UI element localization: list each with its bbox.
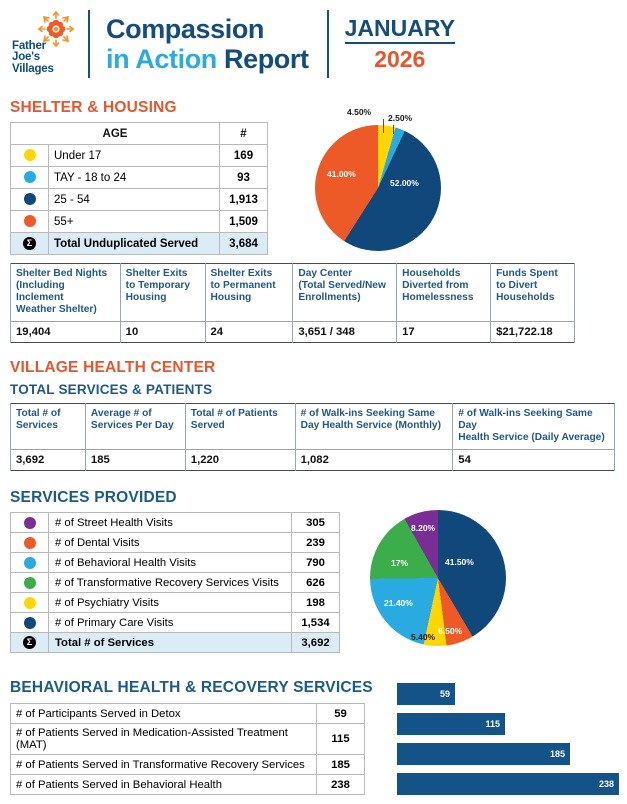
hdr-line: Health Service (Daily Average) [458,432,609,444]
value-total-patients-served: 1,220 [185,450,295,471]
total-value: 3,684 [220,233,268,255]
table-row: # of Primary Care Visits 1,534 [11,613,340,633]
value-walkins-monthly: 1,082 [295,450,453,471]
table-header-row: Shelter Bed Nights (Including Inclement … [11,264,575,322]
value-households-diverted: 17 [397,322,491,343]
service-value: 790 [292,553,340,573]
hdr-line: Housing [211,292,288,304]
table-row: 25 - 54 1,913 [11,189,268,211]
bar-value: 115 [485,719,505,729]
report-month: JANUARY [345,16,455,44]
legend-dot-cell [11,167,49,189]
col-header-walkins-monthly: # of Walk-ins Seeking Same Day Health Se… [295,404,453,450]
hdr-line: Shelter Exits [126,268,200,280]
services-provided-pie-chart: 41.50% 6.50% 5.40% 21.40% 17% 8.20% [360,500,530,655]
bh-label: # of Patients Served in Behavioral Healt… [11,775,317,795]
hdr-line: Services Per Day [91,420,180,432]
bar-behavioral-health: 238 [397,773,619,795]
bh-value: 115 [317,724,365,755]
vhc-total-services-table: Total # of Services Average # of Service… [10,403,615,471]
age-table: AGE # Under 17 169 TAY - 18 to 24 93 25 … [10,122,268,255]
col-header-walkins-daily: # of Walk-ins Seeking Same Day Health Se… [453,404,615,450]
header-divider-right [327,10,329,78]
total-label: Total # of Services [49,633,292,653]
report-header: Father Joe's Villages Compassion in Acti… [0,0,627,88]
table-row: # of Patients Served in Medication-Assis… [11,724,365,755]
report-title: Compassion in Action Report [106,14,309,74]
title-report: Report [224,44,309,74]
pie-label-primary-care: 41.50% [445,557,474,567]
logo-line-2: Joe's [12,52,54,64]
service-label: # of Psychiatry Visits [49,593,292,613]
bar-value: 59 [440,689,455,699]
hdr-line: Diverted from [402,280,485,292]
pie-label-dental: 6.50% [438,626,462,636]
hdr-line: Services [16,420,80,432]
leader-line-1 [383,119,384,133]
bar-row: 238 [385,773,625,795]
hdr-line: Served [191,420,290,432]
pie-label-25-54: 52.00% [390,178,419,188]
pie-label-under-17: 4.50% [347,107,371,117]
pie-label-psychiatry: 5.40% [411,632,435,642]
pie-label-street-health: 8.20% [411,523,435,533]
bh-label: # of Participants Served in Detox [11,704,317,724]
col-header-shelter-bed-nights: Shelter Bed Nights (Including Inclement … [11,264,121,322]
shelter-stats-table: Shelter Bed Nights (Including Inclement … [10,263,575,343]
hdr-line: Weather Shelter) [16,304,115,316]
col-header-funds-spent: Funds Spent to Divert Households [491,264,575,322]
header-divider-left [88,10,90,78]
light-blue-dot-icon [24,557,36,569]
logo: Father Joe's Villages [12,9,74,79]
col-header-households-diverted: Households Diverted from Homelessness [397,264,491,322]
leader-line-2 [393,125,394,134]
title-in-action: in Action [106,44,217,74]
orange-dot-icon [24,537,36,549]
service-label: # of Dental Visits [49,533,292,553]
value-walkins-daily: 54 [453,450,615,471]
navy-dot-icon [24,617,36,629]
col-header-avg-services-per-day: Average # of Services Per Day [85,404,185,450]
legend-dot-cell [11,513,49,533]
hdr-line: Funds Spent [496,268,569,280]
age-label: 25 - 54 [49,189,220,211]
section-title-behavioral-health: BEHAVIORAL HEALTH & RECOVERY SERVICES [10,679,373,697]
bh-label: # of Patients Served in Transformative R… [11,755,317,775]
section-title-services-provided: SERVICES PROVIDED [10,489,177,507]
value-shelter-bed-nights: 19,404 [11,322,121,343]
yellow-dot-icon [24,149,36,161]
age-value: 1,913 [220,189,268,211]
table-row: # of Transformative Recovery Services Vi… [11,573,340,593]
pie-slices [315,125,441,251]
logo-wordmark: Father Joe's Villages [12,41,54,76]
table-row: # of Psychiatry Visits 198 [11,593,340,613]
col-header-total-services: Total # of Services [11,404,86,450]
behavioral-health-bar-chart: 59 115 185 238 [385,683,625,801]
hdr-line: to Permanent [211,280,288,292]
value-total-services: 3,692 [11,450,86,471]
hdr-line: Households [496,292,569,304]
legend-dot-cell [11,593,49,613]
table-row: Under 17 169 [11,145,268,167]
service-value: 305 [292,513,340,533]
light-blue-dot-icon [24,171,36,183]
table-row: # of Participants Served in Detox 59 [11,704,365,724]
services-provided-table: # of Street Health Visits 305 # of Denta… [10,512,340,653]
report-date: JANUARY 2026 [345,16,455,73]
legend-dot-cell [11,145,49,167]
col-header-exits-temporary: Shelter Exits to Temporary Housing [120,264,205,322]
hdr-line: Households [402,268,485,280]
table-row: # of Patients Served in Behavioral Healt… [11,775,365,795]
pie-label-transformative-recovery: 17% [391,558,408,568]
section-title-shelter-housing: SHELTER & HOUSING [10,99,177,117]
subsection-title-total-services: TOTAL SERVICES & PATIENTS [10,382,212,397]
legend-dot-cell: Σ [11,233,49,255]
value-exits-temporary: 10 [120,322,205,343]
total-label: Total Unduplicated Served [49,233,220,255]
hdr-line: # of Walk-ins Seeking Same Day [458,408,609,432]
table-row: 3,692 185 1,220 1,082 54 [11,450,615,471]
bh-label: # of Patients Served in Medication-Assis… [11,724,317,755]
age-value: 169 [220,145,268,167]
value-day-center: 3,651 / 348 [293,322,397,343]
bar-mat: 115 [397,713,505,735]
age-label: Under 17 [49,145,220,167]
legend-dot-cell [11,211,49,233]
service-label: # of Street Health Visits [49,513,292,533]
title-compassion: Compassion [106,14,264,44]
legend-dot-cell [11,533,49,553]
legend-dot-cell: Σ [11,633,49,653]
bar-row: 115 [385,713,625,735]
value-avg-services-per-day: 185 [85,450,185,471]
service-label: # of Behavioral Health Visits [49,553,292,573]
legend-dot-cell [11,613,49,633]
hdr-line: (Total Served/New [298,280,391,292]
hdr-line: (Including Inclement [16,280,115,304]
hdr-line: Average # of [91,408,180,420]
hdr-line: Day Center [298,268,391,280]
section-title-village-health-center: VILLAGE HEALTH CENTER [10,359,215,377]
table-row: # of Street Health Visits 305 [11,513,340,533]
behavioral-health-table: # of Participants Served in Detox 59 # o… [10,703,365,795]
table-total-row: Σ Total Unduplicated Served 3,684 [11,233,268,255]
legend-dot-cell [11,573,49,593]
hdr-line: Enrollments) [298,292,391,304]
hdr-line: Shelter Bed Nights [16,268,115,280]
bh-value: 185 [317,755,365,775]
hdr-line: Total # of Patients [191,408,290,420]
report-year: 2026 [345,44,455,73]
table-row: # of Patients Served in Transformative R… [11,755,365,775]
navy-dot-icon [24,193,36,205]
table-row: TAY - 18 to 24 93 [11,167,268,189]
value-funds-spent: $21,722.18 [491,322,575,343]
table-header-row: Total # of Services Average # of Service… [11,404,615,450]
age-label: 55+ [49,211,220,233]
hdr-line: Total # of [16,408,80,420]
table-row: 19,404 10 24 3,651 / 348 17 $21,722.18 [11,322,575,343]
service-value: 1,534 [292,613,340,633]
table-header-row: AGE # [11,123,268,145]
col-header-day-center: Day Center (Total Served/New Enrollments… [293,264,397,322]
purple-dot-icon [24,517,36,529]
service-label: # of Primary Care Visits [49,613,292,633]
logo-line-3: Villages [12,64,54,76]
bar-value: 185 [550,749,570,759]
hdr-line: Homelessness [402,292,485,304]
hdr-line: Day Health Service (Monthly) [301,420,448,432]
service-value: 198 [292,593,340,613]
service-value: 239 [292,533,340,553]
hdr-line: to Divert [496,280,569,292]
green-dot-icon [24,577,36,589]
age-label: TAY - 18 to 24 [49,167,220,189]
shelter-age-pie-chart: 4.50% 2.50% 52.00% 41.00% [300,105,490,255]
value-exits-permanent: 24 [205,322,293,343]
pie-label-55plus: 41.00% [327,169,356,179]
service-label: # of Transformative Recovery Services Vi… [49,573,292,593]
bar-detox: 59 [397,683,455,705]
age-value: 1,509 [220,211,268,233]
hdr-line: # of Walk-ins Seeking Same [301,408,448,420]
bar-transformative-recovery: 185 [397,743,570,765]
sum-icon: Σ [23,636,36,649]
age-header: AGE [11,123,220,145]
orange-dot-icon [24,215,36,227]
bh-value: 238 [317,775,365,795]
table-row: # of Behavioral Health Visits 790 [11,553,340,573]
age-value: 93 [220,167,268,189]
legend-dot-cell [11,189,49,211]
hdr-line: to Temporary [126,280,200,292]
bar-row: 59 [385,683,625,705]
yellow-dot-icon [24,597,36,609]
col-header-total-patients-served: Total # of Patients Served [185,404,295,450]
bh-value: 59 [317,704,365,724]
bar-value: 238 [599,779,619,789]
table-row: # of Dental Visits 239 [11,533,340,553]
col-header-exits-permanent: Shelter Exits to Permanent Housing [205,264,293,322]
bar-row: 185 [385,743,625,765]
legend-dot-cell [11,553,49,573]
table-row: 55+ 1,509 [11,211,268,233]
pie-label-tay: 2.50% [388,113,412,123]
hdr-line: Housing [126,292,200,304]
service-value: 626 [292,573,340,593]
count-header: # [220,123,268,145]
hdr-line: Shelter Exits [211,268,288,280]
pie-label-behavioral-health: 21.40% [384,598,413,608]
total-value: 3,692 [292,633,340,653]
table-total-row: Σ Total # of Services 3,692 [11,633,340,653]
sum-icon: Σ [23,237,36,250]
